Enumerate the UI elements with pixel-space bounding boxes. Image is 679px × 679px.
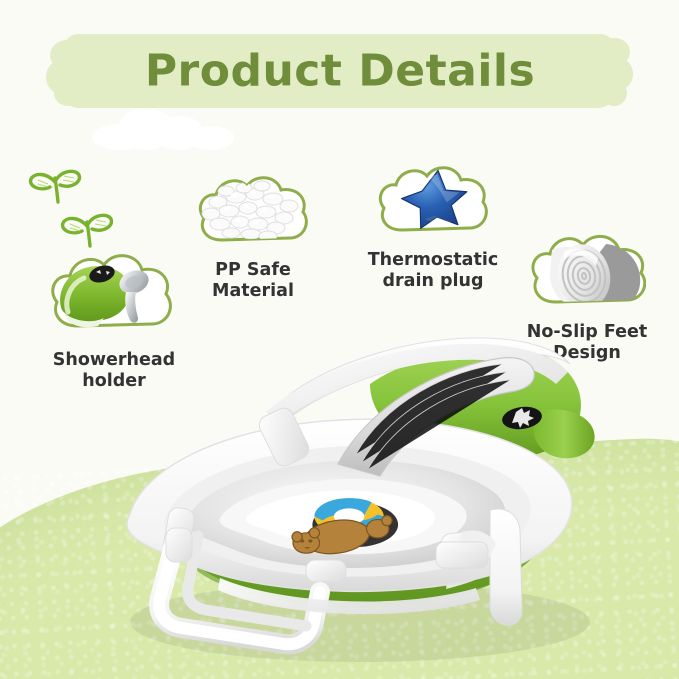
cloud-badge [376, 154, 490, 246]
sprout-decoration [24, 162, 114, 248]
feature-thermostatic-drain-plug[interactable]: Thermostatic drain plug [376, 154, 490, 246]
feature-label: Thermostatic drain plug [328, 250, 538, 292]
feature-pp-safe-material[interactable]: PP Safe Material [196, 164, 310, 256]
page-title: Product Details [64, 46, 616, 97]
product-image-folding-baby-bathtub [70, 292, 630, 670]
cloud-badge [196, 164, 310, 256]
infographic-canvas: Product Details [0, 0, 679, 679]
title-banner: Product Details [64, 34, 616, 108]
decorative-cloud [92, 104, 242, 150]
cloud-puff [188, 126, 234, 150]
